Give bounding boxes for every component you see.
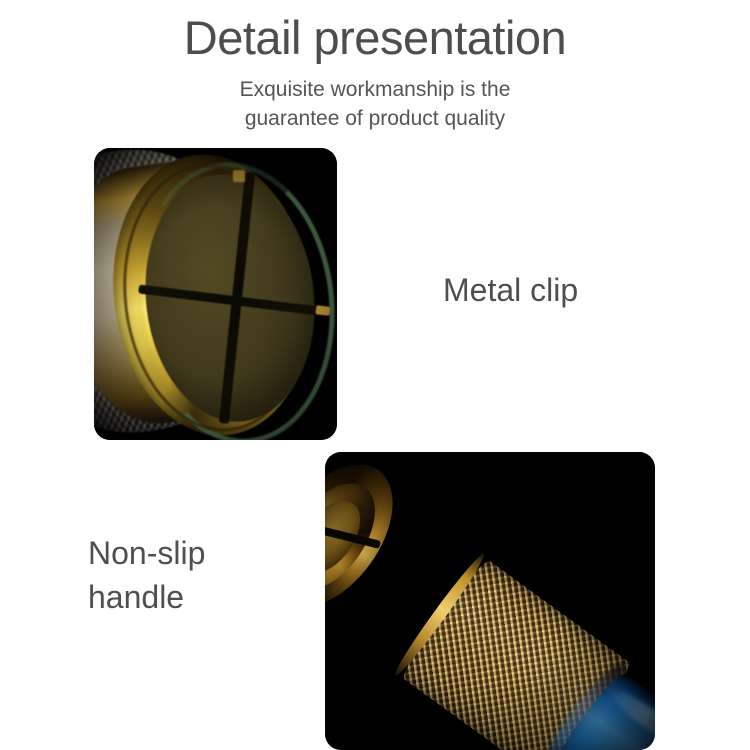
caption-metal-clip: Metal clip (443, 268, 578, 312)
page-title: Detail presentation (0, 0, 750, 65)
subtitle-line-2: guarantee of product quality (0, 104, 750, 134)
photo-vignette (94, 148, 337, 440)
subtitle-line-1: Exquisite workmanship is the (0, 75, 750, 105)
detail-presentation-page: Detail presentation Exquisite workmanshi… (0, 0, 750, 750)
metal-clip-scene (94, 148, 337, 440)
non-slip-handle-photo (325, 452, 655, 750)
header: Detail presentation Exquisite workmanshi… (0, 0, 750, 134)
caption-handle-line-2: handle (88, 575, 205, 619)
non-slip-handle-scene (325, 452, 655, 750)
caption-handle-line-1: Non-slip (88, 531, 205, 575)
caption-non-slip-handle: Non-slip handle (88, 531, 205, 619)
page-subtitle: Exquisite workmanship is the guarantee o… (0, 65, 750, 135)
photo-vignette (325, 452, 655, 750)
metal-clip-photo (94, 148, 337, 440)
